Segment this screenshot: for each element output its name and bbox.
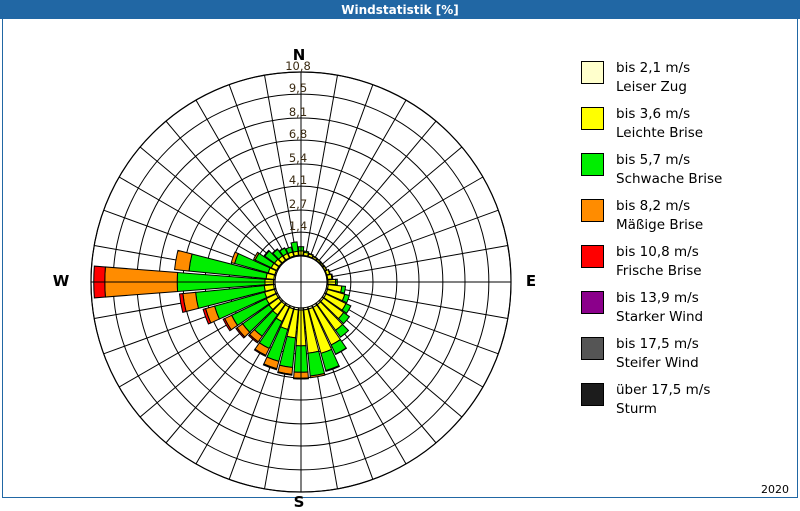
legend-swatch: [581, 291, 604, 314]
legend-beaufort-name: Leichte Brise: [616, 124, 703, 143]
windrose-svg: 1,42,74,15,46,88,19,510,8: [3, 19, 563, 496]
legend-beaufort-name: Leiser Zug: [616, 78, 690, 97]
radial-tick-labels: 1,42,74,15,46,88,19,510,8: [285, 59, 311, 233]
grid-spoke: [327, 287, 508, 319]
compass-label-south: S: [279, 493, 319, 511]
legend-speed-range: bis 2,1 m/s: [616, 59, 690, 78]
legend-item[interactable]: bis 5,7 m/sSchwache Brise: [581, 151, 797, 197]
legend-speed-range: bis 13,9 m/s: [616, 289, 703, 308]
grid-spoke: [306, 75, 338, 256]
windrose-segment: [341, 286, 346, 293]
radial-tick-label: 9,5: [289, 81, 307, 95]
grid-spoke: [324, 177, 483, 269]
legend-beaufort-name: Mäßige Brise: [616, 216, 703, 235]
legend-beaufort-name: Schwache Brise: [616, 170, 722, 189]
grid-spoke: [325, 210, 498, 273]
windrose-chart: 1,42,74,15,46,88,19,510,8 N E S W: [3, 19, 563, 496]
legend-item[interactable]: über 17,5 m/sSturm: [581, 381, 797, 427]
legend-item[interactable]: bis 17,5 m/sSteifer Wind: [581, 335, 797, 381]
legend-item[interactable]: bis 13,9 m/sStarker Wind: [581, 289, 797, 335]
windrose-segment: [304, 251, 309, 253]
grid-spoke: [327, 246, 508, 278]
window-title: Windstatistik [%]: [341, 3, 458, 17]
grid-spoke: [318, 121, 436, 262]
grid-spoke: [314, 100, 406, 259]
legend-label: bis 8,2 m/sMäßige Brise: [616, 197, 703, 235]
compass-label-east: E: [511, 272, 551, 290]
legend-item[interactable]: bis 3,6 m/sLeichte Brise: [581, 105, 797, 151]
legend-label: bis 17,5 m/sSteifer Wind: [616, 335, 699, 373]
grid-spoke: [229, 85, 292, 258]
grid-spoke: [325, 291, 498, 354]
legend-swatch: [581, 199, 604, 222]
windrose-segment: [175, 250, 192, 271]
grid-spoke: [196, 100, 288, 259]
radial-tick-label: 6,8: [289, 127, 307, 141]
radial-tick-label: 1,4: [289, 219, 307, 233]
legend-label: bis 3,6 m/sLeichte Brise: [616, 105, 703, 143]
grid-spoke: [310, 85, 373, 258]
grid-spoke: [119, 177, 278, 269]
grid-spoke: [140, 147, 281, 265]
legend-speed-range: bis 8,2 m/s: [616, 197, 703, 216]
legend-beaufort-name: Steifer Wind: [616, 354, 699, 373]
radial-tick-label: 5,4: [289, 151, 307, 165]
footer-year: 2020: [761, 483, 789, 496]
legend-beaufort-name: Frische Brise: [616, 262, 702, 281]
legend-item[interactable]: bis 10,8 m/sFrische Brise: [581, 243, 797, 289]
legend-swatch: [581, 153, 604, 176]
windrose-window: Windstatistik [%] 1,42,74,15,46,88,19,51…: [0, 0, 800, 500]
legend-swatch: [581, 383, 604, 406]
legend-speed-range: über 17,5 m/s: [616, 381, 710, 400]
legend-item[interactable]: bis 8,2 m/sMäßige Brise: [581, 197, 797, 243]
legend-speed-range: bis 17,5 m/s: [616, 335, 699, 354]
legend-swatch: [581, 245, 604, 268]
grid-spoke: [321, 147, 462, 265]
legend-swatch: [581, 107, 604, 130]
compass-label-west: W: [41, 272, 81, 290]
legend-speed-range: bis 10,8 m/s: [616, 243, 702, 262]
legend-label: bis 13,9 m/sStarker Wind: [616, 289, 703, 327]
legend-speed-range: bis 5,7 m/s: [616, 151, 722, 170]
legend-label: über 17,5 m/sSturm: [616, 381, 710, 419]
legend-beaufort-name: Starker Wind: [616, 308, 703, 327]
radial-tick-label: 2,7: [289, 197, 307, 211]
legend-swatch: [581, 61, 604, 84]
windrose-segment: [331, 274, 333, 279]
grid-spoke: [166, 121, 284, 262]
legend-item[interactable]: bis 2,1 m/sLeiser Zug: [581, 59, 797, 105]
radial-tick-label: 4,1: [289, 173, 307, 187]
radial-tick-label: 8,1: [289, 105, 307, 119]
legend-label: bis 10,8 m/sFrische Brise: [616, 243, 702, 281]
windrose-petals: [94, 242, 351, 379]
legend-label: bis 2,1 m/sLeiser Zug: [616, 59, 690, 97]
legend: bis 2,1 m/sLeiser Zugbis 3,6 m/sLeichte …: [581, 59, 797, 427]
legend-beaufort-name: Sturm: [616, 400, 710, 419]
compass-label-north: N: [279, 46, 319, 64]
window-title-bar: Windstatistik [%]: [0, 0, 800, 19]
legend-speed-range: bis 3,6 m/s: [616, 105, 703, 124]
legend-swatch: [581, 337, 604, 360]
legend-label: bis 5,7 m/sSchwache Brise: [616, 151, 722, 189]
window-content: 1,42,74,15,46,88,19,510,8 N E S W bis 2,…: [2, 19, 798, 498]
